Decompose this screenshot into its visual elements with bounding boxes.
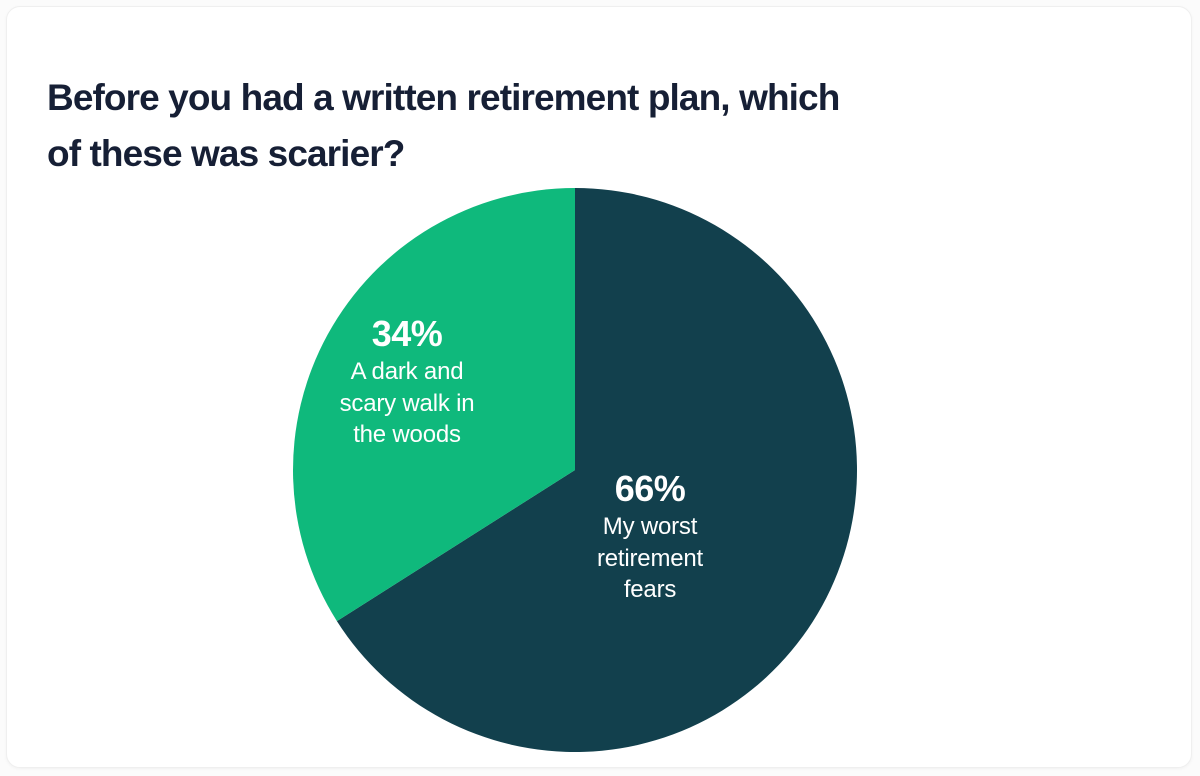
pie-label-text-dark-line-1: My worst	[555, 511, 745, 543]
pie-label-text-green-line-3: the woods	[309, 419, 505, 451]
pie-label-text-green-line-2: scary walk in	[309, 388, 505, 420]
pie-label-a-dark-and-scary-walk-in-the-woods: 34% A dark and scary walk in the woods	[309, 312, 505, 451]
page-title-line-1: Before you had a written retirement plan…	[47, 70, 927, 126]
screenshot-root: Before you had a written retirement plan…	[0, 0, 1200, 776]
pie-label-percent-dark: 66%	[555, 467, 745, 511]
pie-chart: 34% A dark and scary walk in the woods 6…	[293, 188, 857, 752]
pie-label-percent-green: 34%	[309, 312, 505, 356]
chart-card: Before you had a written retirement plan…	[6, 6, 1192, 768]
pie-label-text-green-line-1: A dark and	[309, 356, 505, 388]
pie-label-text-dark-line-3: fears	[555, 574, 745, 606]
page-title: Before you had a written retirement plan…	[47, 70, 927, 182]
page-title-line-2: of these was scarier?	[47, 126, 927, 182]
pie-label-my-worst-retirement-fears: 66% My worst retirement fears	[555, 467, 745, 606]
pie-label-text-dark-line-2: retirement	[555, 543, 745, 575]
